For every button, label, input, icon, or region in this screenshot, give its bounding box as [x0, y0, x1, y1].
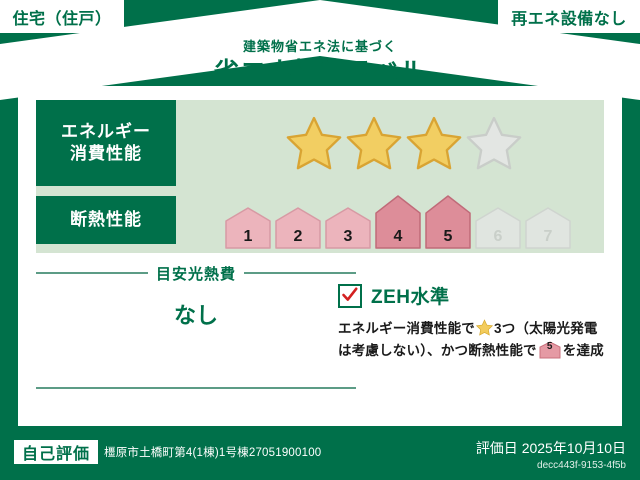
insulation-level-7: 7 — [524, 194, 572, 250]
utility-cost-heading-text: 目安光熱費 — [156, 263, 236, 284]
heading-rule-right — [244, 272, 356, 274]
utility-cost-bottom-rule — [36, 387, 356, 389]
insulation-level-scale: 1234567 — [224, 188, 604, 250]
check-icon — [341, 286, 359, 304]
property-address: 橿原市土橋町第4(1棟)1号棟27051900100 — [104, 444, 321, 460]
insulation-level-4: 4 — [374, 194, 422, 250]
insulation-level-value: 7 — [524, 228, 572, 246]
insulation-level-5: 5 — [424, 194, 472, 250]
insulation-level-1: 1 — [224, 194, 272, 250]
insulation-level-inline-icon: 5 — [539, 341, 561, 359]
badge-renewable-energy: 再エネ設備なし — [498, 0, 640, 33]
energy-consumption-label: エネルギー 消費性能 — [36, 100, 176, 186]
evaluation-date-block: 評価日 2025年10月10日 decc443f-9153-4f5b — [476, 438, 626, 471]
footer: 自己評価 橿原市土橋町第4(1棟)1号棟27051900100 評価日 2025… — [0, 432, 640, 480]
insulation-level-2: 2 — [274, 194, 322, 250]
insulation-level-value: 4 — [374, 228, 422, 246]
zeh-desc-part-2: は考慮しない）、かつ断熱性能で — [338, 343, 537, 358]
insulation-level-value: 6 — [474, 228, 522, 246]
insulation-performance-label: 断熱性能 — [36, 196, 176, 244]
zeh-section: ZEH水準 エネルギー消費性能で3つ（太陽光発電 は考慮しない）、かつ断熱性能で… — [338, 282, 618, 362]
performance-section: エネルギー 消費性能 断熱性能 1234567 — [36, 100, 604, 253]
title-subtitle: 建築物省エネ法に基づく — [0, 38, 640, 56]
main-panel: エネルギー 消費性能 断熱性能 1234567 目安光熱費 なし Z — [18, 86, 622, 426]
badge-building-type: 住宅（住戸） — [0, 0, 124, 33]
star-icon-empty — [466, 115, 522, 171]
star-icon — [476, 319, 493, 336]
star-icon-filled — [406, 115, 462, 171]
zeh-checkbox[interactable] — [338, 284, 362, 308]
page-title: 省エネ性能ラベル — [0, 56, 640, 88]
zeh-heading: ZEH水準 — [338, 282, 618, 309]
energy-label-line-1: エネルギー — [61, 121, 151, 143]
star-icon-filled — [286, 115, 342, 171]
utility-cost-heading: 目安光熱費 — [36, 264, 356, 282]
heading-rule-left — [36, 272, 148, 274]
self-evaluation-badge: 自己評価 — [14, 440, 98, 464]
utility-cost-value: なし — [36, 298, 356, 330]
insulation-level-inline-value: 5 — [539, 336, 561, 358]
star-icon-filled — [346, 115, 402, 171]
insulation-level-value: 1 — [224, 228, 272, 246]
zeh-desc-part-3: を達成 — [563, 343, 604, 358]
insulation-level-value: 5 — [424, 228, 472, 246]
zeh-desc-star-count: 3つ（太陽光発電 — [494, 321, 598, 336]
insulation-level-value: 3 — [324, 228, 372, 246]
star-rating — [286, 106, 586, 180]
zeh-description: エネルギー消費性能で3つ（太陽光発電 は考慮しない）、かつ断熱性能で5を達成 — [338, 318, 618, 362]
evaluation-date: 評価日 2025年10月10日 — [476, 438, 626, 458]
zeh-desc-part-1: エネルギー消費性能で — [338, 321, 475, 336]
energy-performance-label: 住宅（住戸） 再エネ設備なし 建築物省エネ法に基づく 省エネ性能ラベル エネルギ… — [0, 0, 640, 480]
insulation-level-3: 3 — [324, 194, 372, 250]
title-block: 建築物省エネ法に基づく 省エネ性能ラベル — [0, 38, 640, 88]
insulation-level-6: 6 — [474, 194, 522, 250]
zeh-title: ZEH水準 — [371, 282, 450, 309]
energy-label-line-2: 消費性能 — [70, 143, 142, 165]
label-uid: decc443f-9153-4f5b — [476, 460, 626, 471]
insulation-level-value: 2 — [274, 228, 322, 246]
